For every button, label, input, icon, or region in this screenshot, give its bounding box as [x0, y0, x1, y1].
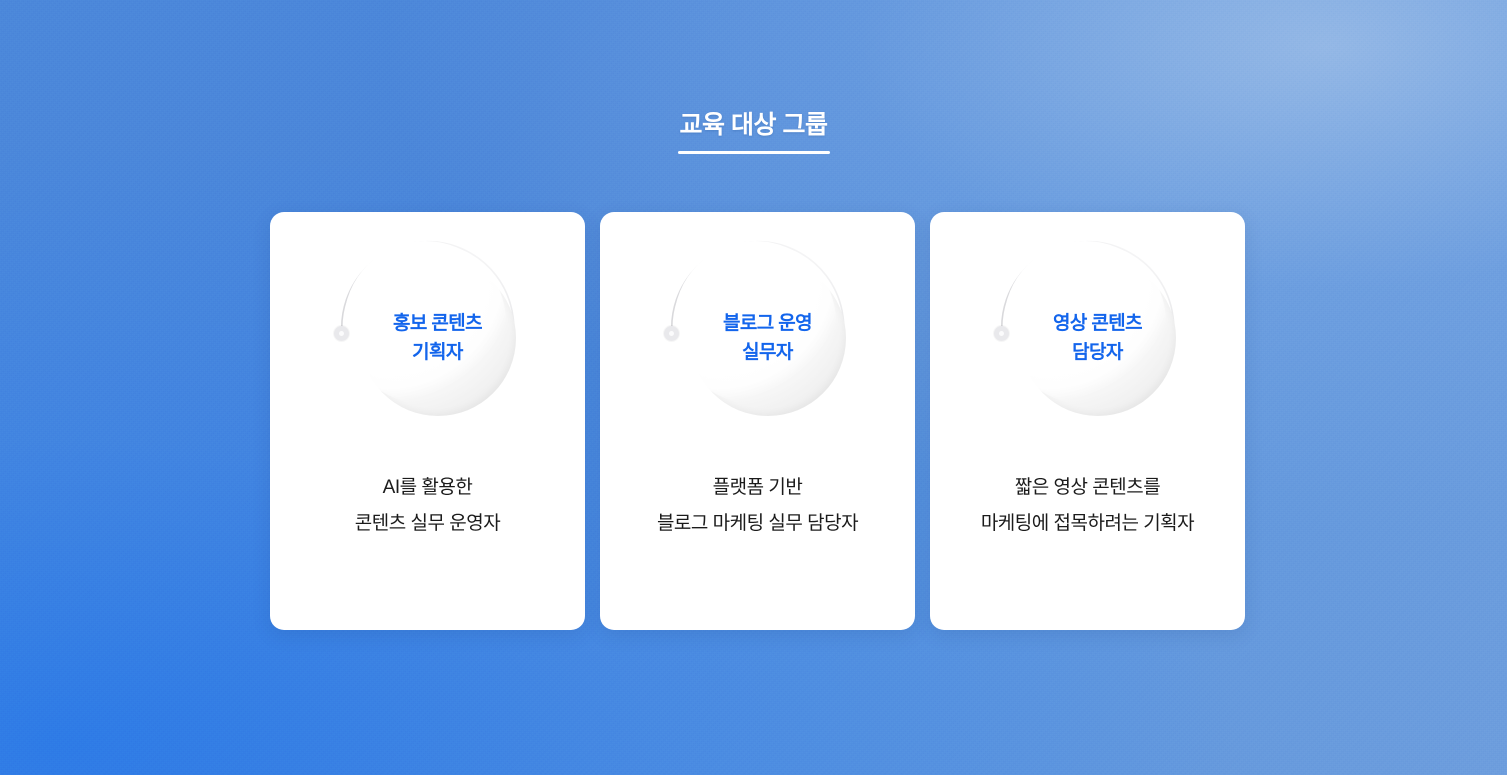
target-group-card-list: 홍보 콘텐츠 기획자 AI를 활용한 콘텐츠 실무 운영자 — [270, 212, 1245, 630]
section-heading: 교육 대상 그룹 — [0, 108, 1507, 154]
badge-label: 홍보 콘텐츠 기획자 — [360, 260, 516, 416]
badge-circle: 홍보 콘텐츠 기획자 — [338, 248, 518, 428]
ring-handle-dot-icon — [994, 326, 1009, 341]
card-description-line1: AI를 활용한 — [284, 470, 571, 506]
card-description-line2: 마케팅에 접목하려는 기획자 — [944, 506, 1231, 542]
badge-label-line2: 실무자 — [742, 338, 793, 367]
badge-label-line1: 블로그 운영 — [723, 309, 812, 338]
card-description-line2: 블로그 마케팅 실무 담당자 — [614, 506, 901, 542]
heading-underline — [678, 151, 830, 154]
page-title: 교육 대상 그룹 — [680, 108, 828, 142]
badge-label: 블로그 운영 실무자 — [690, 260, 846, 416]
target-group-card[interactable]: 홍보 콘텐츠 기획자 AI를 활용한 콘텐츠 실무 운영자 — [270, 212, 585, 630]
card-description: 플랫폼 기반 블로그 마케팅 실무 담당자 — [600, 470, 915, 542]
card-description: 짧은 영상 콘텐츠를 마케팅에 접목하려는 기획자 — [930, 470, 1245, 542]
slide-stage: 교육 대상 그룹 — [0, 0, 1507, 775]
target-group-card[interactable]: 블로그 운영 실무자 플랫폼 기반 블로그 마케팅 실무 담당자 — [600, 212, 915, 630]
ring-handle-dot-icon — [664, 326, 679, 341]
card-description-line1: 짧은 영상 콘텐츠를 — [944, 470, 1231, 506]
badge-label-line2: 담당자 — [1072, 338, 1123, 367]
card-description-line2: 콘텐츠 실무 운영자 — [284, 506, 571, 542]
badge-label-line2: 기획자 — [412, 338, 463, 367]
card-description-line1: 플랫폼 기반 — [614, 470, 901, 506]
target-group-card[interactable]: 영상 콘텐츠 담당자 짧은 영상 콘텐츠를 마케팅에 접목하려는 기획자 — [930, 212, 1245, 630]
ring-handle-dot-icon — [334, 326, 349, 341]
badge-circle: 영상 콘텐츠 담당자 — [998, 248, 1178, 428]
badge-label: 영상 콘텐츠 담당자 — [1020, 260, 1176, 416]
badge-circle: 블로그 운영 실무자 — [668, 248, 848, 428]
badge-label-line1: 영상 콘텐츠 — [1053, 309, 1142, 338]
card-description: AI를 활용한 콘텐츠 실무 운영자 — [270, 470, 585, 542]
badge-label-line1: 홍보 콘텐츠 — [393, 309, 482, 338]
